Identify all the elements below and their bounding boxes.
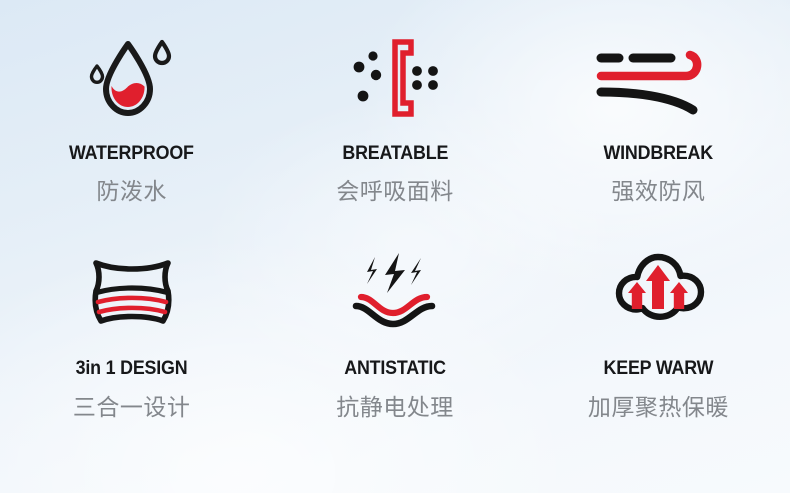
wind-lines-icon [593, 32, 723, 124]
feature-subtitle: 防泼水 [96, 180, 167, 203]
antistatic-lightning-icon [347, 245, 443, 337]
feature-card-breathable: BREATABLE 会呼吸面料 [263, 0, 526, 203]
feature-card-windbreak: WINDBREAK 强效防风 [527, 0, 790, 203]
feature-subtitle: 加厚聚热保暖 [588, 396, 729, 419]
feature-subtitle: 强效防风 [611, 180, 705, 203]
feature-title: KEEP WARW [603, 359, 713, 378]
feature-grid: WATERPROOF 防泼水 BREATABLE 会呼吸面料 [0, 0, 790, 493]
feature-title: ANTISTATIC [344, 359, 446, 378]
feature-card-waterproof: WATERPROOF 防泼水 [0, 0, 263, 203]
feature-highlights-board: WATERPROOF 防泼水 BREATABLE 会呼吸面料 [0, 0, 790, 493]
feature-title: 3in 1 DESIGN [76, 359, 188, 378]
feature-card-antistatic: ANTISTATIC 抗静电处理 [263, 227, 526, 419]
feature-subtitle: 会呼吸面料 [336, 180, 454, 203]
feature-card-three-in-one: 3in 1 DESIGN 三合一设计 [0, 227, 263, 419]
water-drop-icon [86, 32, 178, 124]
feature-subtitle: 抗静电处理 [336, 396, 454, 419]
feature-card-keep-warm: KEEP WARW 加厚聚热保暖 [527, 227, 790, 419]
feature-title: WINDBREAK [604, 144, 713, 163]
feature-title: BREATABLE [342, 144, 448, 163]
breathable-fabric-icon [349, 32, 441, 124]
feature-title: WATERPROOF [69, 144, 194, 163]
warm-cloud-arrows-icon [608, 245, 708, 337]
three-layer-fabric-icon [84, 245, 180, 337]
feature-subtitle: 三合一设计 [73, 396, 191, 419]
